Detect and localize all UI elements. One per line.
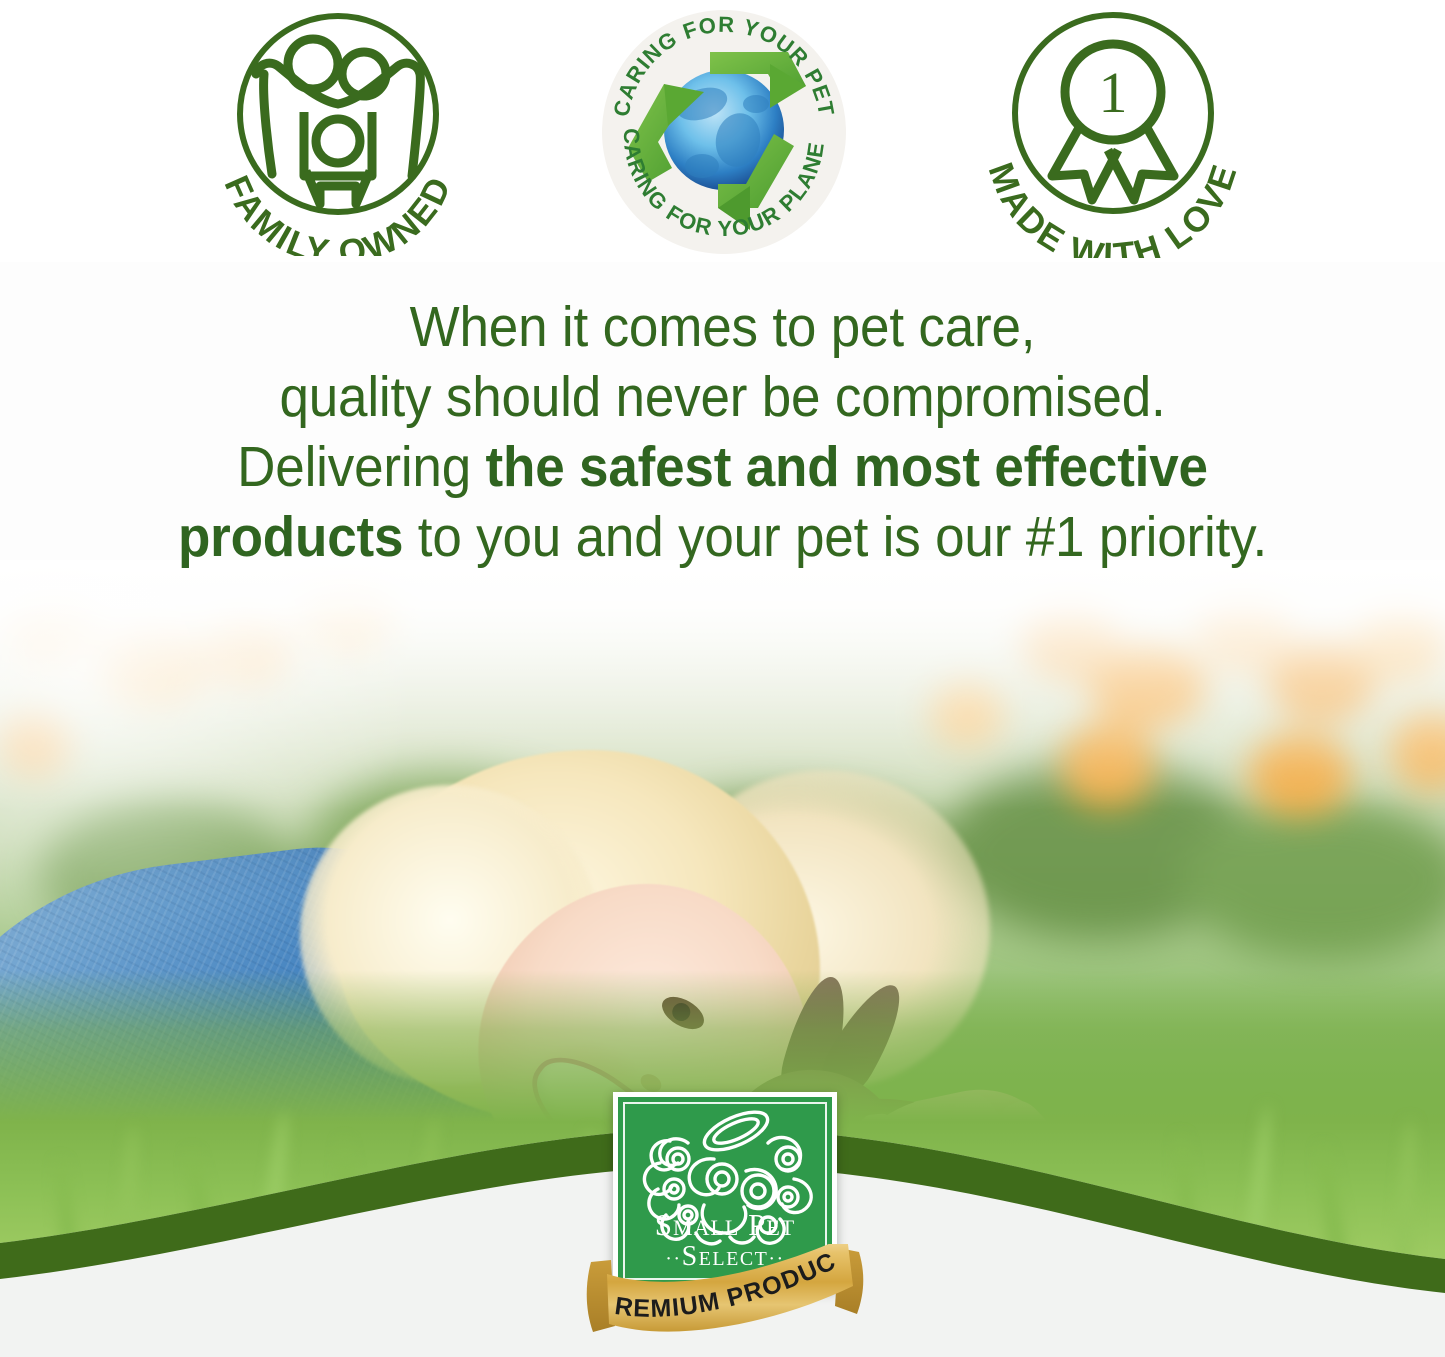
logo-et: ET: [766, 1215, 795, 1240]
badge-family-owned: FAMILY OWNED: [196, 8, 481, 256]
headline-line-3: Delivering the safest and most effective: [51, 432, 1395, 502]
headline-line-4: products to you and your pet is our #1 p…: [51, 502, 1395, 572]
badge-made-with-love: 1 MADE WITH LOVE: [968, 8, 1258, 258]
logo-p: P: [748, 1207, 766, 1242]
trust-badges-row: FAMILY OWNED: [0, 0, 1445, 262]
headline-line-3-bold: the safest and most effective: [486, 435, 1208, 499]
premium-ribbon: PREMIUM PRODUCT: [581, 1244, 869, 1340]
logo-s: S: [655, 1207, 673, 1242]
logo-brand-small-pet: SMALL PET: [618, 1209, 832, 1240]
logo-mall: MALL: [673, 1215, 739, 1240]
headline-line-2: quality should never be compromised.: [51, 362, 1395, 432]
brand-logo: SMALL PET ··SELECT··: [609, 1092, 841, 1342]
headline-line-4-bold: products: [178, 505, 403, 569]
promo-banner: FAMILY OWNED: [0, 0, 1445, 1357]
headline-line-3-prefix: Delivering: [237, 435, 485, 499]
badge-caring-recycle: CARING FOR YOUR PET CARING FOR YOUR PLAN…: [598, 8, 850, 256]
badge-number: 1: [1099, 60, 1128, 125]
badge-made-with-love-label: MADE WITH LOVE: [981, 158, 1245, 258]
headline-line-4-suffix: to you and your pet is our #1 priority.: [403, 505, 1267, 569]
headline: When it comes to pet care, quality shoul…: [0, 292, 1445, 572]
headline-line-1: When it comes to pet care,: [51, 292, 1395, 362]
